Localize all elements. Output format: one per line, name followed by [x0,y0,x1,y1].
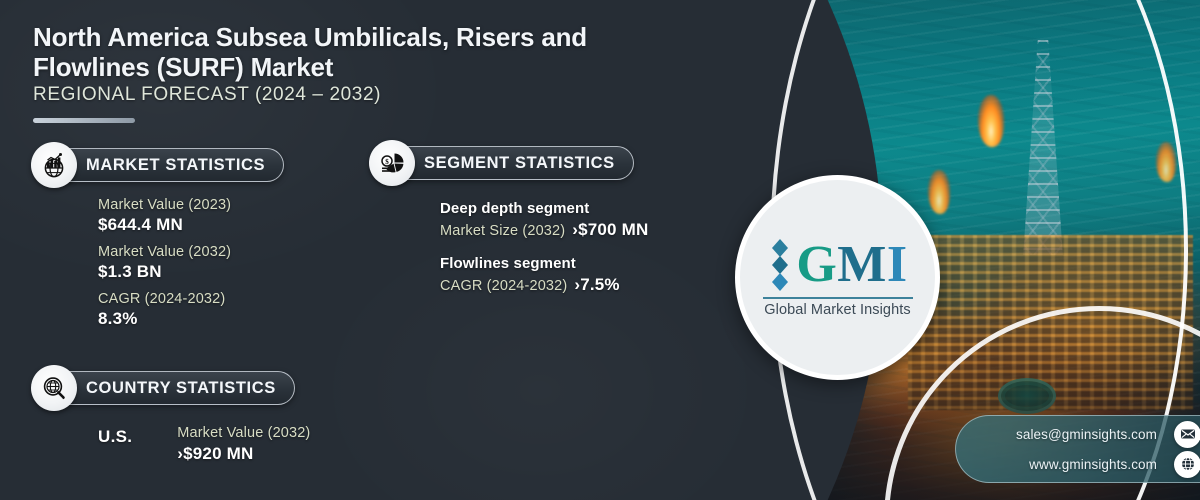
country-statistics-list: U.S. Market Value (2032) ›$920 MN [98,425,310,464]
country-statistics-badge: COUNTRY STATISTICS [37,371,295,405]
country-market-value-label: Market Value (2032) [177,425,310,441]
pie-chart-dollar-icon: $ [369,140,415,186]
globe-search-icon [31,365,77,411]
flowlines-value: ›7.5% [574,275,619,295]
logo-letter-m: M [837,239,885,291]
market-value-2032-value: $1.3 BN [98,262,231,282]
contact-email-text[interactable]: sales@gminsights.com [1016,427,1157,442]
logo-divider [763,297,913,299]
country-statistics-badge-label: COUNTRY STATISTICS [86,379,276,398]
country-market-value: ›$920 MN [177,444,310,464]
contact-bar: sales@gminsights.com www.gminsights.com [955,415,1200,483]
market-value-2023-value: $644.4 MN [98,215,231,235]
logo-tagline: Global Market Insights [764,302,910,318]
country-value-block: Market Value (2032) ›$920 MN [177,425,310,464]
flowlines-heading: Flowlines segment [440,255,648,272]
envelope-icon [1174,421,1200,448]
deep-depth-heading: Deep depth segment [440,200,648,217]
market-report-banner: North America Subsea Umbilicals, Risers … [0,0,1200,500]
deep-depth-value: ›$700 MN [572,220,648,240]
contact-email-row[interactable]: sales@gminsights.com [976,421,1157,447]
contact-website-row[interactable]: www.gminsights.com [976,451,1157,477]
country-name: U.S. [98,425,132,447]
segment-statistics-badge-label: SEGMENT STATISTICS [424,154,615,173]
title-divider [33,118,135,123]
market-value-2023-label: Market Value (2023) [98,197,231,213]
globe-chart-icon [31,142,77,188]
market-statistics-badge-label: MARKET STATISTICS [86,156,265,175]
logo-letter-g: G [796,239,835,291]
market-value-2032-label: Market Value (2032) [98,244,231,260]
cagr-label: CAGR (2024-2032) [98,291,231,307]
globe-icon [1174,451,1200,478]
svg-text:$: $ [385,158,389,166]
gmi-logo: G M I Global Market Insights [735,175,940,380]
diamond-icon [769,237,791,293]
segment-group-flowlines: Flowlines segment CAGR (2024-2032) ›7.5% [440,255,648,295]
flowlines-label: CAGR (2024-2032) [440,278,567,294]
market-statistics-badge: MARKET STATISTICS [37,148,284,182]
page-subtitle: REGIONAL FORECAST (2024 – 2032) [33,84,381,106]
logo-letter-i: I [887,239,906,291]
segment-statistics-list: Deep depth segment Market Size (2032) ›$… [440,200,648,295]
gmi-logo-mark: G M I [769,237,905,293]
deep-depth-label: Market Size (2032) [440,223,565,239]
segment-group-deep-depth: Deep depth segment Market Size (2032) ›$… [440,200,648,240]
page-title: North America Subsea Umbilicals, Risers … [33,22,693,83]
market-statistics-list: Market Value (2023) $644.4 MN Market Val… [98,197,231,329]
contact-website-text[interactable]: www.gminsights.com [1029,457,1157,472]
cagr-value: 8.3% [98,309,231,329]
segment-statistics-badge: $ SEGMENT STATISTICS [375,146,634,180]
